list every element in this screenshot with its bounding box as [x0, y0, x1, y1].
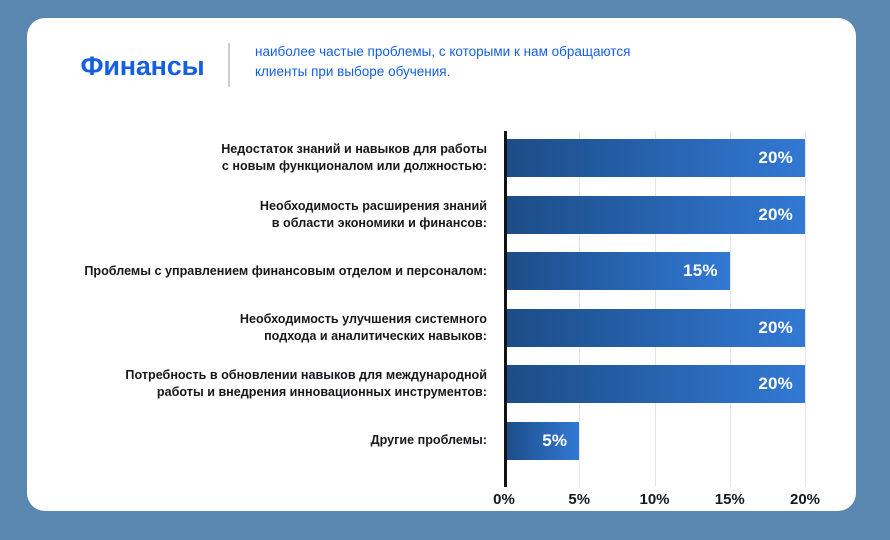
category-label: Необходимость улучшения системногоподход… — [57, 311, 487, 345]
bar-row[interactable]: 20% — [504, 365, 805, 403]
category-label-line: Недостаток знаний и навыков для работы — [57, 141, 487, 158]
category-label: Другие проблемы: — [57, 432, 487, 449]
content-card: Финансы наиболее частые проблемы, с кото… — [27, 18, 856, 511]
bar-row[interactable]: 20% — [504, 309, 805, 347]
category-label-line: Проблемы с управлением финансовым отдело… — [57, 263, 487, 280]
bar-value-label: 5% — [504, 422, 579, 460]
category-label-line: в области экономики и финансов: — [57, 215, 487, 232]
header-divider — [228, 43, 230, 87]
category-label: Проблемы с управлением финансовым отдело… — [57, 263, 487, 280]
value-axis-line — [504, 131, 507, 487]
category-label: Необходимость расширения знанийв области… — [57, 198, 487, 232]
gridline-20 — [805, 131, 806, 487]
tick-label: 5% — [549, 491, 609, 508]
bar-chart: Недостаток знаний и навыков для работыс … — [27, 108, 856, 511]
category-label-line: с новым функционалом или должностью: — [57, 158, 487, 175]
category-axis-labels: Недостаток знаний и навыков для работыс … — [47, 131, 487, 487]
tick-label: 10% — [625, 491, 685, 508]
category-label-line: Потребность в обновлении навыков для меж… — [57, 367, 487, 384]
bar-row[interactable]: 15% — [504, 252, 805, 290]
header-subtitle: наиболее частые проблемы, с которыми к н… — [255, 42, 655, 82]
slide-root: Финансы наиболее частые проблемы, с кото… — [0, 0, 890, 540]
page-title: Финансы — [55, 51, 230, 82]
bar-value-label: 20% — [504, 196, 805, 234]
category-label-line: Другие проблемы: — [57, 432, 487, 449]
category-label: Потребность в обновлении навыков для меж… — [57, 367, 487, 401]
tick-label: 20% — [775, 491, 835, 508]
bar-row[interactable]: 20% — [504, 196, 805, 234]
bar-value-label: 20% — [504, 309, 805, 347]
plot-area: 20%20%15%20%20%5% — [504, 131, 805, 487]
category-label-line: подхода и аналитических навыков: — [57, 328, 487, 345]
tick-label: 0% — [474, 491, 534, 508]
category-label-line: работы и внедрения инновационных инструм… — [57, 384, 487, 401]
bar-value-label: 20% — [504, 365, 805, 403]
category-label-line: Необходимость расширения знаний — [57, 198, 487, 215]
tick-label: 15% — [700, 491, 760, 508]
category-label: Недостаток знаний и навыков для работыс … — [57, 141, 487, 175]
bar-row[interactable]: 5% — [504, 422, 805, 460]
category-label-line: Необходимость улучшения системного — [57, 311, 487, 328]
bar-value-label: 20% — [504, 139, 805, 177]
bar-value-label: 15% — [504, 252, 730, 290]
header: Финансы наиболее частые проблемы, с кото… — [27, 18, 856, 108]
value-axis-ticks: 0%5%10%15%20% — [504, 491, 824, 511]
bar-row[interactable]: 20% — [504, 139, 805, 177]
